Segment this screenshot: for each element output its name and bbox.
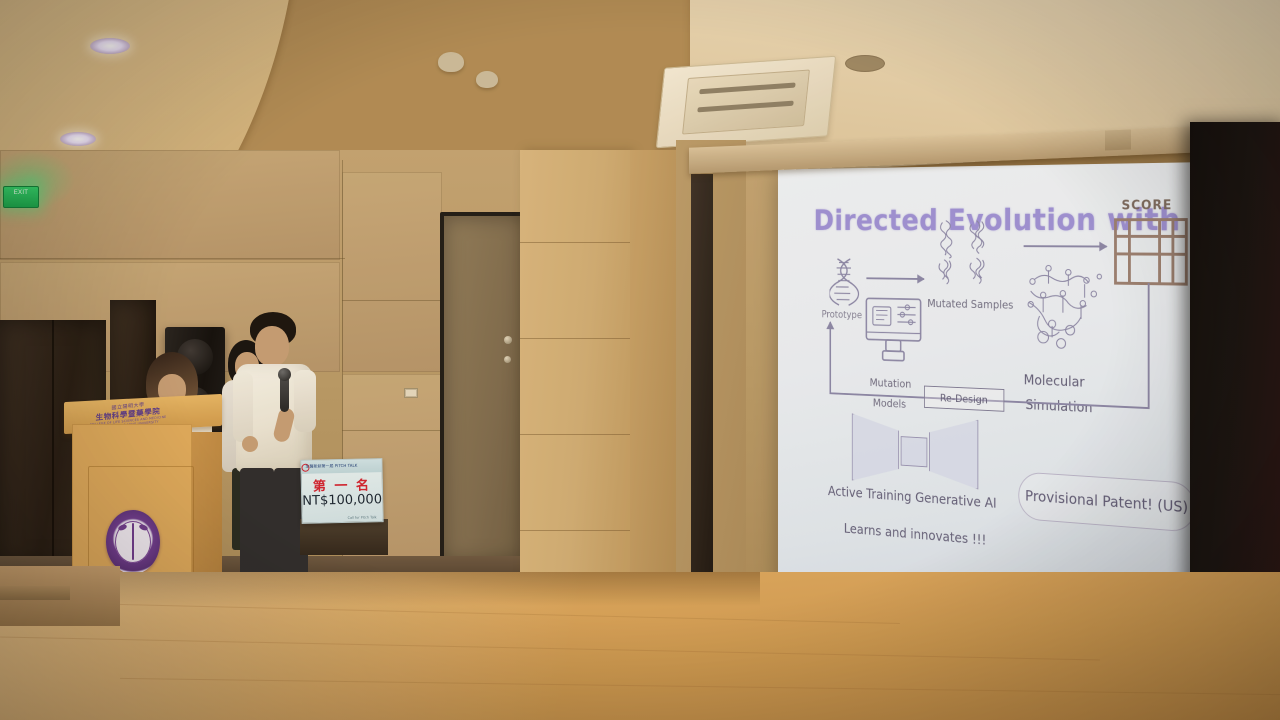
light-switch-plate[interactable]: [404, 388, 418, 398]
auditorium-room: EXIT Directed Evolution with: [0, 0, 1280, 720]
dna-helix-icon: [830, 255, 864, 308]
computer-monitor-icon: [863, 296, 926, 366]
feedback-arrow-up-left: [830, 322, 832, 394]
wall-seam: [0, 258, 345, 259]
structural-pillar: [520, 150, 630, 630]
molecular-simulation-label-line1: Molecular: [1024, 373, 1085, 391]
side-door[interactable]: [440, 212, 528, 565]
redesign-box: Re-Design: [924, 386, 1004, 412]
university-emblem: [106, 510, 160, 574]
award-sign-header: 生醫新創第一屆 PITCH TALK: [301, 459, 381, 474]
arrow-prototype-to-samples: [866, 277, 924, 280]
molecular-simulation-label-line2: Simulation: [1025, 398, 1092, 417]
wall-seam: [342, 300, 442, 301]
award-cheque-sign: 生醫新創第一屆 PITCH TALK 第 一 名 NT$100,000 Call…: [300, 458, 383, 524]
feedback-line-vertical-right: [1148, 283, 1150, 409]
exit-sign: EXIT: [3, 186, 39, 208]
award-footer-label: Call for Pitch Talk: [303, 515, 377, 521]
projection-screen: Directed Evolution with AI Prototype: [703, 56, 1263, 656]
smoke-detector: [438, 52, 464, 72]
autoencoder-decoder: [929, 417, 978, 489]
downlight-on: [90, 38, 130, 54]
protein-structures-icon: [936, 217, 1015, 293]
autoencoder-encoder: [852, 413, 899, 484]
screenshot-root: EXIT Directed Evolution with: [0, 0, 1280, 720]
molecule-network-icon: [1022, 259, 1109, 353]
arm-right: [294, 370, 316, 432]
microphone-head: [278, 368, 291, 381]
floor-sheen: [0, 572, 1280, 720]
generative-ai-label-line1: Active Training Generative AI: [828, 484, 997, 511]
award-org-label: 生醫新創第一屆 PITCH TALK: [305, 463, 357, 470]
screen-rail-bracket: [1105, 129, 1131, 150]
mutation-models-label-line1: Mutation: [870, 376, 912, 391]
generative-ai-label-line2: Learns and innovates !!!: [844, 522, 987, 549]
side-table: [300, 519, 388, 555]
downlight-on: [60, 132, 96, 146]
award-amount-label: NT$100,000: [302, 492, 382, 509]
mutation-models-label-line2: Models: [873, 396, 906, 410]
wall-panel: [342, 172, 442, 372]
stage-step: [0, 586, 70, 600]
smoke-detector: [476, 71, 498, 88]
prototype-label: Prototype: [822, 309, 862, 321]
head: [255, 326, 289, 366]
arrow-samples-to-score: [1024, 245, 1107, 247]
hand-gesture: [242, 436, 258, 452]
mutated-samples-label: Mutated Samples: [927, 297, 1013, 312]
exit-sign-label: EXIT: [7, 190, 35, 204]
arm-left: [233, 372, 253, 442]
score-table-icon: [1114, 218, 1188, 286]
provisional-patent-badge: Provisional Patent! (US): [1018, 471, 1195, 532]
pillar-side-face: [630, 150, 680, 620]
wall-seam: [342, 430, 442, 431]
autoencoder-latent: [901, 436, 928, 467]
score-caption: SCORE: [1122, 198, 1173, 213]
